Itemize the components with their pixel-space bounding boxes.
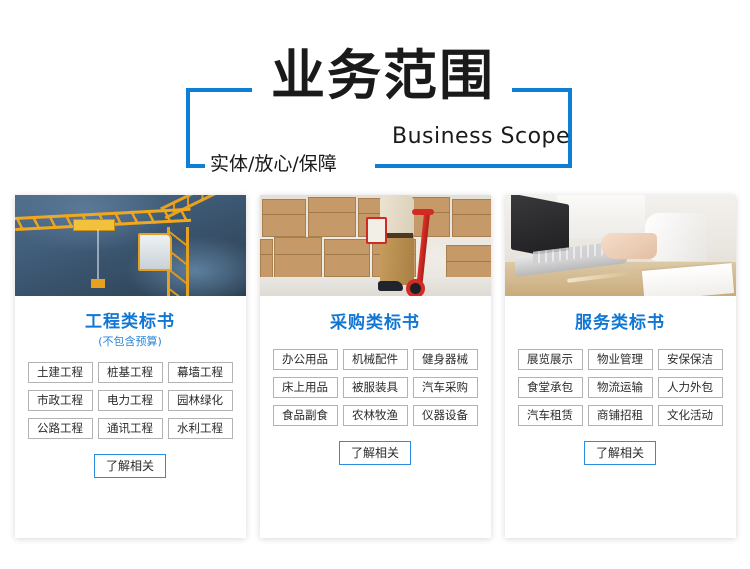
card-tag[interactable]: 物流运输 [588, 377, 653, 398]
warehouse-boxes-photo [260, 195, 491, 296]
card-tag[interactable]: 汽车采购 [413, 377, 478, 398]
card-tag[interactable]: 土建工程 [28, 362, 93, 383]
learn-more-button[interactable]: 了解相关 [584, 441, 656, 465]
page-tagline: 实体/放心/保障 [210, 152, 337, 176]
card-tag[interactable]: 公路工程 [28, 418, 93, 439]
card-tag-list: 土建工程 桩基工程 幕墙工程 市政工程 电力工程 园林绿化 公路工程 通讯工程 … [28, 362, 233, 439]
learn-more-button[interactable]: 了解相关 [94, 454, 166, 478]
card-tag[interactable]: 机械配件 [343, 349, 408, 370]
card-title: 工程类标书 [85, 312, 175, 332]
card-tag[interactable]: 人力外包 [658, 377, 723, 398]
typing-hand-shape [601, 233, 657, 259]
business-scope-card[interactable]: 采购类标书 办公用品 机械配件 健身器械 床上用品 被服装具 汽车采购 食品副食… [260, 195, 491, 538]
page-title: 业务范围 [258, 47, 508, 105]
cardboard-box-shape [274, 237, 322, 281]
card-tag[interactable]: 安保保洁 [658, 349, 723, 370]
card-tag[interactable]: 水利工程 [168, 418, 233, 439]
card-tag[interactable]: 办公用品 [273, 349, 338, 370]
card-tag[interactable]: 床上用品 [273, 377, 338, 398]
crane-hook-line [97, 229, 99, 281]
crane-cab-shape [138, 233, 172, 271]
card-tag[interactable]: 被服装具 [343, 377, 408, 398]
construction-crane-photo [15, 195, 246, 296]
card-tag[interactable]: 物业管理 [588, 349, 653, 370]
card-tag[interactable]: 园林绿化 [168, 390, 233, 411]
card-tag[interactable]: 商铺招租 [588, 405, 653, 426]
card-subtitle: (不包含预算) [98, 335, 162, 349]
hand-truck-handle-shape [412, 209, 434, 215]
card-tag[interactable]: 通讯工程 [98, 418, 163, 439]
card-title: 服务类标书 [575, 313, 665, 333]
card-tag[interactable]: 食堂承包 [518, 377, 583, 398]
card-tag[interactable]: 农林牧渔 [343, 405, 408, 426]
cardboard-box-shape [452, 199, 491, 237]
cardboard-box-shape [324, 239, 370, 277]
card-tag[interactable]: 幕墙工程 [168, 362, 233, 383]
business-scope-card[interactable]: 服务类标书 展览展示 物业管理 安保保洁 食堂承包 物流运输 人力外包 汽车租赁… [505, 195, 736, 538]
card-tag[interactable]: 健身器械 [413, 349, 478, 370]
page-header: 业务范围 Business Scope 实体/放心/保障 [0, 0, 750, 190]
learn-more-button[interactable]: 了解相关 [339, 441, 411, 465]
card-tag[interactable]: 汽车租赁 [518, 405, 583, 426]
card-tag[interactable]: 桩基工程 [98, 362, 163, 383]
laptop-typing-photo [505, 195, 736, 296]
worker-shoe-shape [378, 281, 403, 291]
card-title: 采购类标书 [330, 313, 420, 333]
business-scope-card[interactable]: 工程类标书 (不包含预算) 土建工程 桩基工程 幕墙工程 市政工程 电力工程 园… [15, 195, 246, 538]
crane-trolley-shape [73, 219, 115, 231]
card-tag[interactable]: 电力工程 [98, 390, 163, 411]
card-tag[interactable]: 食品副食 [273, 405, 338, 426]
page-subtitle-english: Business Scope [392, 124, 570, 150]
cardboard-box-shape [262, 199, 306, 237]
card-tag[interactable]: 仪器设备 [413, 405, 478, 426]
worker-pants-shape [380, 237, 414, 285]
card-tag[interactable]: 文化活动 [658, 405, 723, 426]
crane-hook-block [91, 279, 105, 288]
cardboard-box-shape [308, 197, 356, 237]
card-tag-list: 办公用品 机械配件 健身器械 床上用品 被服装具 汽车采购 食品副食 农林牧渔 … [273, 349, 478, 426]
warehouse-floor-shape [260, 277, 491, 296]
hand-truck-wheel-shape [406, 279, 425, 296]
business-scope-card-list: 工程类标书 (不包含预算) 土建工程 桩基工程 幕墙工程 市政工程 电力工程 园… [0, 195, 750, 545]
cardboard-box-shape [260, 239, 273, 279]
card-tag-list: 展览展示 物业管理 安保保洁 食堂承包 物流运输 人力外包 汽车租赁 商铺招租 … [518, 349, 723, 426]
clipboard-shape [366, 217, 387, 244]
card-tag[interactable]: 市政工程 [28, 390, 93, 411]
card-tag[interactable]: 展览展示 [518, 349, 583, 370]
